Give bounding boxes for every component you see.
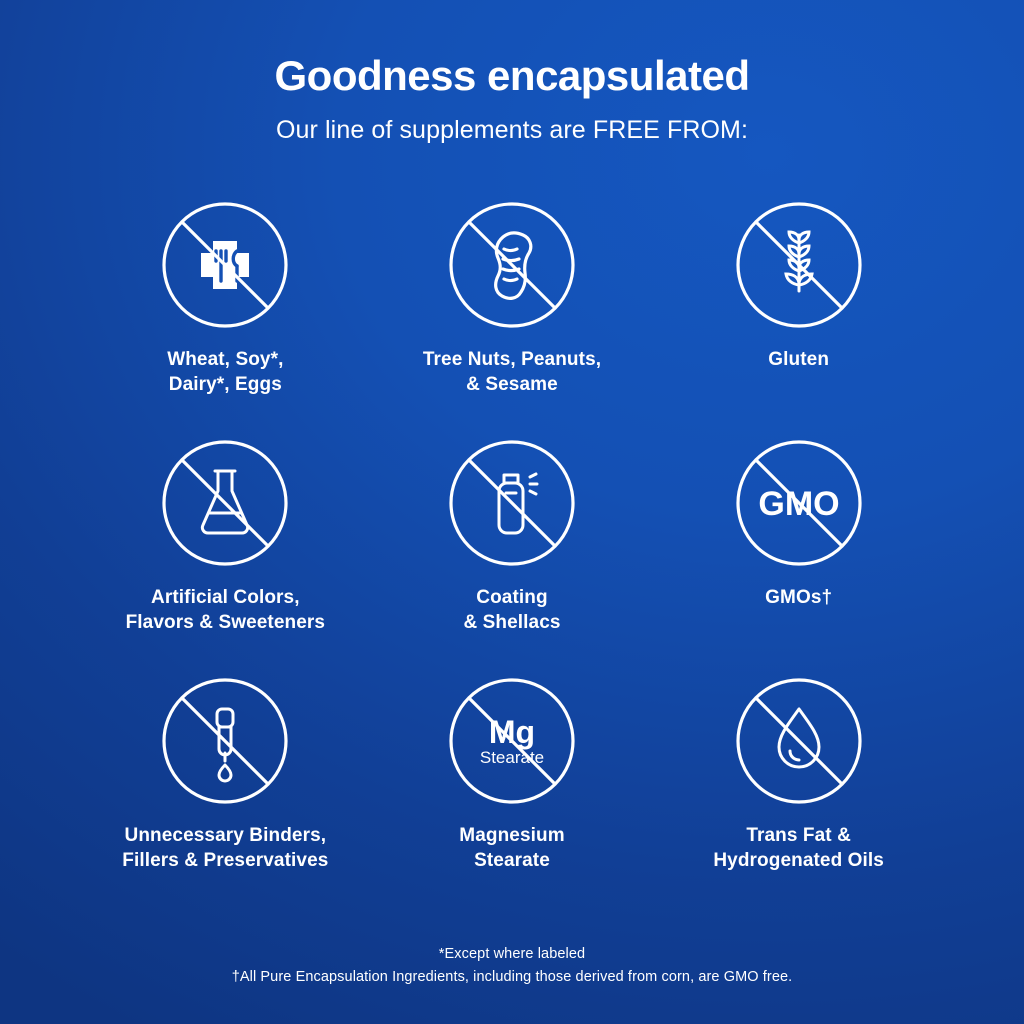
grid-item-label: Gluten (768, 347, 829, 372)
grid-item-label: GMOs† (765, 585, 832, 610)
free-from-grid: Wheat, Soy*, Dairy*, Eggs Tree Nuts, (82, 199, 942, 913)
no-spray-can-icon (446, 437, 578, 569)
grid-item: Trans Fat & Hydrogenated Oils (655, 675, 942, 913)
no-oil-drop-icon (733, 675, 865, 807)
grid-item: Coating & Shellacs (369, 437, 656, 675)
grid-item: Tree Nuts, Peanuts, & Sesame (369, 199, 656, 437)
footnote-1: *Except where labeled (0, 943, 1024, 965)
grid-item: GMO GMOs† (655, 437, 942, 675)
grid-item-label: Tree Nuts, Peanuts, & Sesame (423, 347, 601, 397)
page-title: Goodness encapsulated (275, 52, 750, 100)
grid-item-label: Magnesium Stearate (459, 823, 564, 873)
no-gluten-wheat-icon (733, 199, 865, 331)
grid-item: Wheat, Soy*, Dairy*, Eggs (82, 199, 369, 437)
grid-item-label: Unnecessary Binders, Fillers & Preservat… (122, 823, 328, 873)
no-gmo-icon: GMO (733, 437, 865, 569)
page-subtitle: Our line of supplements are FREE FROM: (276, 116, 748, 145)
no-peanut-icon (446, 199, 578, 331)
mg-text: Mg (489, 714, 535, 750)
grid-item-label: Coating & Shellacs (463, 585, 560, 635)
footnote-2: †All Pure Encapsulation Ingredients, inc… (0, 966, 1024, 988)
no-magnesium-stearate-icon: Mg Stearate (446, 675, 578, 807)
grid-item-label: Wheat, Soy*, Dairy*, Eggs (167, 347, 283, 397)
footnotes: *Except where labeled †All Pure Encapsul… (0, 943, 1024, 988)
no-flask-icon (159, 437, 291, 569)
grid-item-label: Artificial Colors, Flavors & Sweeteners (126, 585, 325, 635)
grid-item-label: Trans Fat & Hydrogenated Oils (713, 823, 884, 873)
grid-item: Gluten (655, 199, 942, 437)
grid-item: Mg Stearate Magnesium Stearate (369, 675, 656, 913)
promo-page: Goodness encapsulated Our line of supple… (0, 0, 1024, 1024)
no-allergens-icon (159, 199, 291, 331)
grid-item: Unnecessary Binders, Fillers & Preservat… (82, 675, 369, 913)
grid-item: Artificial Colors, Flavors & Sweeteners (82, 437, 369, 675)
no-dropper-icon (159, 675, 291, 807)
